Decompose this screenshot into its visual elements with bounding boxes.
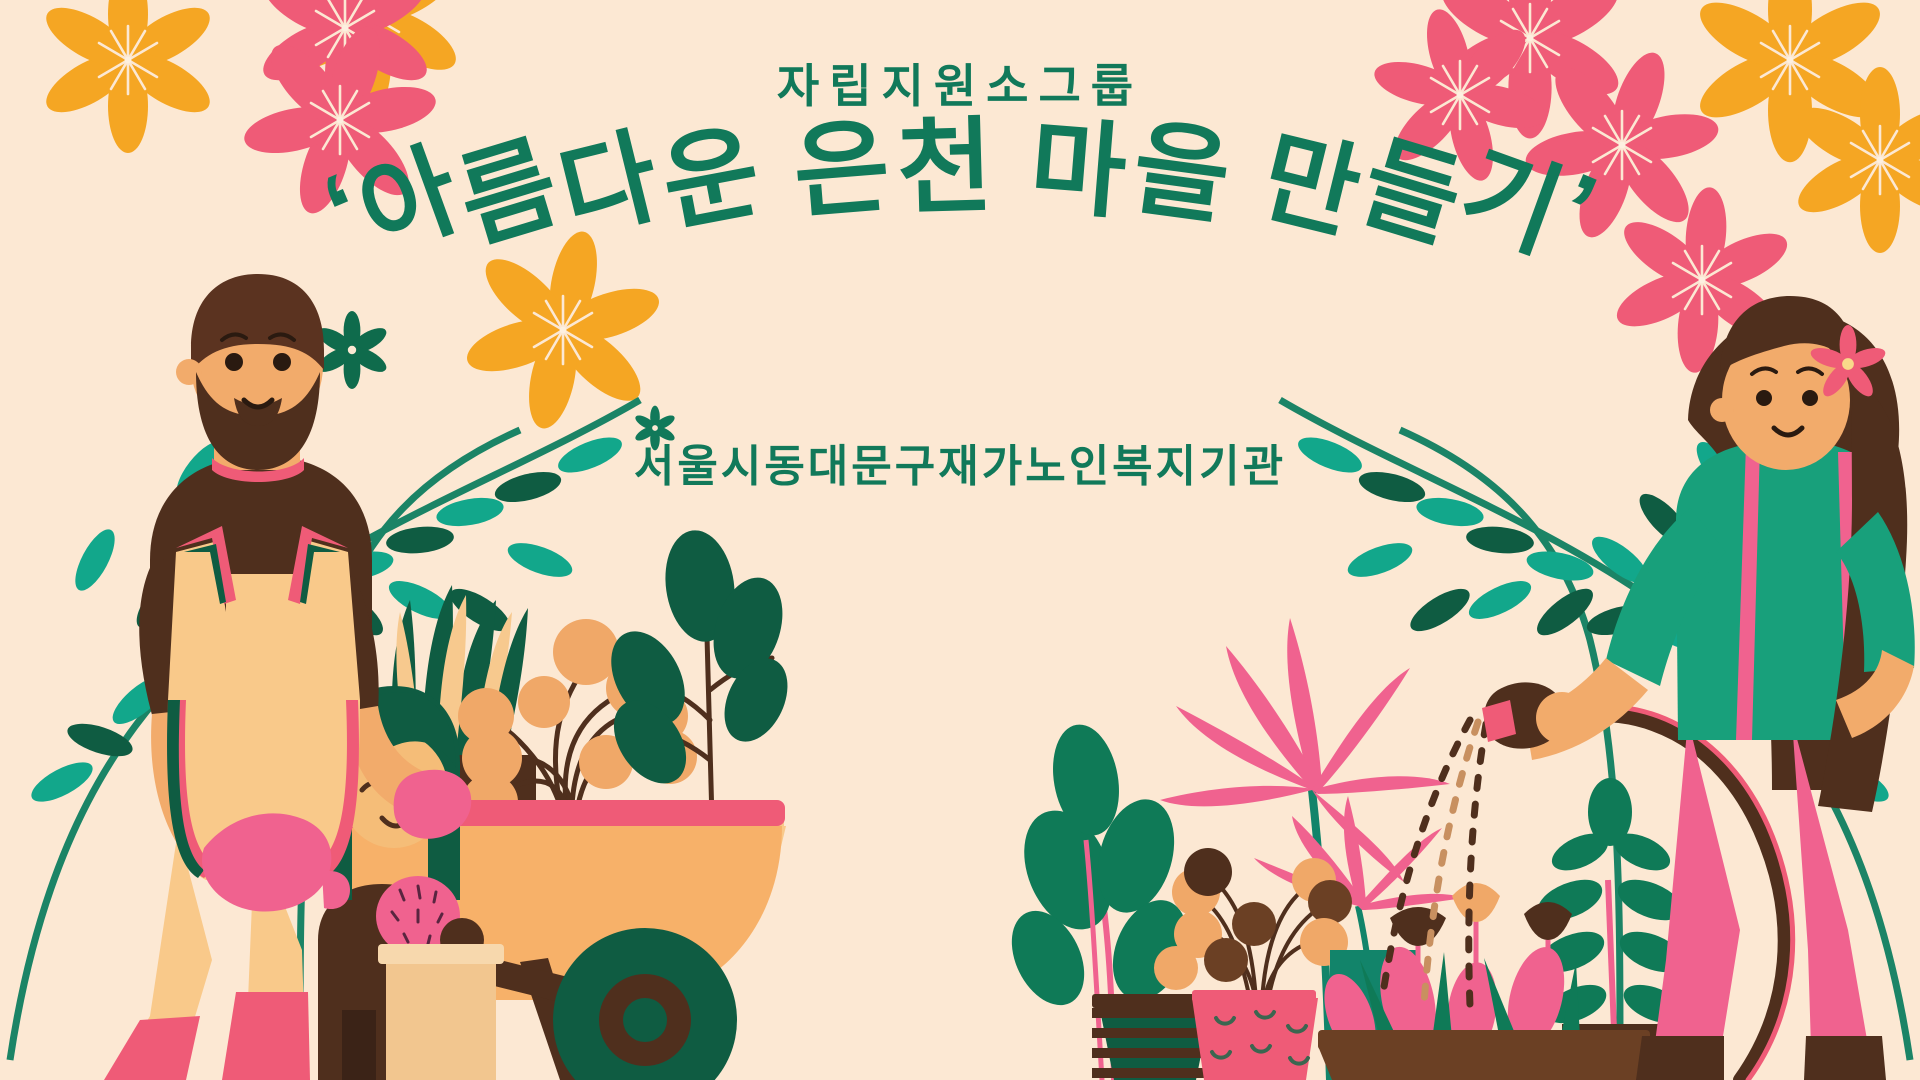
title-char: 운 — [654, 119, 767, 239]
title-char: 천 — [896, 115, 994, 222]
title-char: 은 — [790, 114, 894, 225]
title-char: 을 — [1126, 116, 1235, 232]
poster-canvas: 자립지원소그룹 ‘아름다운 은천 마을 만들기’ 서울시동대문구재가노인복지기관… — [0, 0, 1920, 1080]
eyebrow-text: 자립지원소그룹 — [0, 50, 1920, 116]
title-char: 마 — [1026, 114, 1130, 225]
page-title: ‘아름다운 은천 마을 만들기’ — [0, 150, 1920, 420]
organization-name: 서울시동대문구재가노인복지기관 — [0, 430, 1920, 494]
